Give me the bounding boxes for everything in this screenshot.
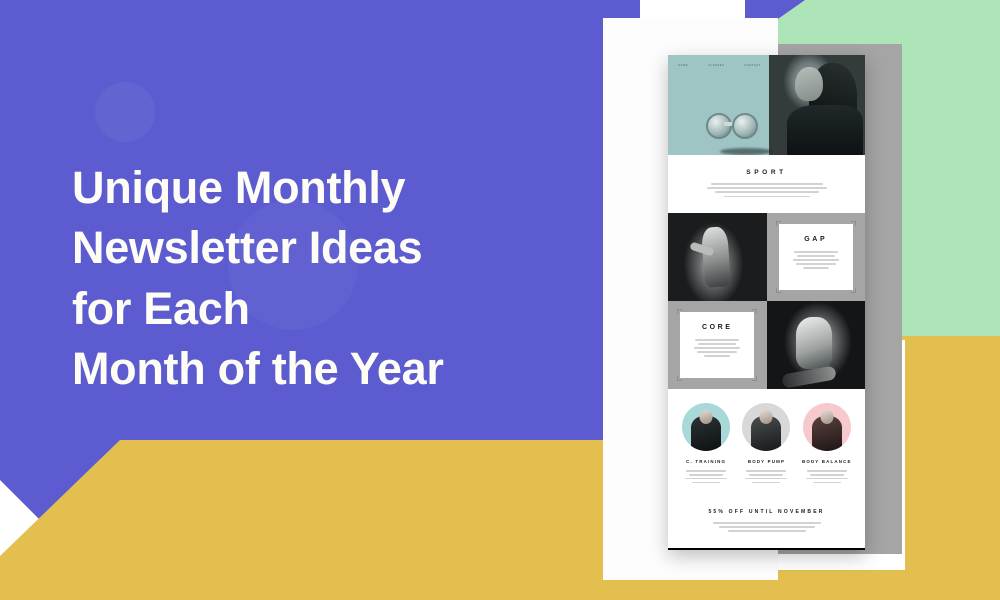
dumbbell-icon (706, 109, 758, 143)
placeholder-text-line (794, 251, 838, 253)
placeholder-text-line (697, 351, 737, 353)
hero-athlete-photo (769, 55, 865, 155)
placeholder-text-line (715, 191, 819, 193)
placeholder-text-line (711, 183, 823, 185)
class-title: BODY BALANCE (800, 459, 854, 464)
headline-line-1: Unique Monthly (72, 158, 592, 218)
mockup-hero: HOME CLASSES CONTACT (668, 55, 865, 155)
placeholder-text-line (719, 526, 815, 528)
headline-line-2: Newsletter Ideas (72, 218, 592, 278)
dumbbell-bar (724, 122, 742, 126)
placeholder-text-line (806, 478, 848, 480)
gap-photo (668, 213, 767, 301)
class-head-shape (700, 410, 713, 424)
hero-body-shape (787, 105, 863, 155)
hero-face-shape (795, 67, 823, 101)
class-title: C. TRAINING (679, 459, 733, 464)
placeholder-text-line (695, 339, 739, 341)
placeholder-text-line (713, 522, 821, 524)
core-photo (767, 301, 866, 389)
corner-mark-br (851, 288, 856, 293)
placeholder-text-line (797, 255, 835, 257)
corner-mark-br (752, 376, 757, 381)
core-figure-shape (796, 317, 832, 369)
corner-mark-tl (677, 309, 682, 314)
class-body-lines (739, 470, 793, 483)
placeholder-text-line (807, 470, 847, 472)
class-head-shape (760, 410, 773, 424)
class-item[interactable]: BODY PUMP (739, 403, 793, 483)
promo-text: 55% OFF UNTIL NOVEMBER (668, 509, 865, 515)
newsletter-mockup: HOME CLASSES CONTACT SPORT (668, 55, 865, 550)
class-head-shape (820, 410, 833, 424)
corner-mark-bl (677, 376, 682, 381)
placeholder-text-line (704, 355, 730, 357)
placeholder-text-line (803, 267, 829, 269)
placeholder-text-line (752, 482, 780, 484)
class-photo-circle (742, 403, 790, 451)
placeholder-text-line (724, 196, 810, 198)
core-card: CORE (680, 312, 754, 378)
corner-mark-tl (776, 221, 781, 226)
decorative-circle-small (95, 82, 155, 142)
placeholder-text-line (745, 478, 787, 480)
mockup-core-row: CORE (668, 301, 865, 389)
promo-body-lines (668, 522, 865, 532)
core-title: CORE (688, 324, 746, 331)
mockup-footer: f ✦ (668, 548, 865, 550)
placeholder-text-line (810, 474, 844, 476)
gap-card: GAP (779, 224, 853, 290)
placeholder-text-line (692, 482, 720, 484)
gap-title: GAP (787, 236, 845, 243)
mockup-nav: HOME CLASSES CONTACT (678, 64, 761, 67)
mockup-sport-section: SPORT (668, 155, 865, 213)
placeholder-text-line (746, 470, 786, 472)
placeholder-text-line (686, 470, 726, 472)
corner-mark-bl (776, 288, 781, 293)
gap-figure-shape (701, 226, 731, 288)
sport-title: SPORT (690, 169, 843, 176)
gap-card-wrap: GAP (767, 213, 866, 301)
nav-item-contact[interactable]: CONTACT (744, 64, 761, 67)
class-body-lines (679, 470, 733, 483)
nav-item-classes[interactable]: CLASSES (708, 64, 724, 67)
placeholder-text-line (685, 478, 727, 480)
headline-line-3: for Each (72, 279, 592, 339)
placeholder-text-line (689, 474, 723, 476)
class-item[interactable]: C. TRAINING (679, 403, 733, 483)
core-leg-shape (781, 365, 837, 388)
core-body-lines (688, 339, 746, 357)
corner-mark-tr (752, 309, 757, 314)
placeholder-text-line (749, 474, 783, 476)
page-title: Unique Monthly Newsletter Ideas for Each… (72, 158, 592, 399)
core-card-wrap: CORE (668, 301, 767, 389)
mockup-gap-row: GAP (668, 213, 865, 301)
placeholder-text-line (728, 530, 806, 532)
sport-body-lines (690, 183, 843, 197)
nav-item-home[interactable]: HOME (678, 64, 688, 67)
class-item[interactable]: BODY BALANCE (800, 403, 854, 483)
gap-body-lines (787, 251, 845, 269)
class-photo-circle (682, 403, 730, 451)
placeholder-text-line (796, 263, 836, 265)
mockup-promo-section: 55% OFF UNTIL NOVEMBER (668, 495, 865, 548)
placeholder-text-line (694, 347, 740, 349)
placeholder-text-line (707, 187, 827, 189)
class-photo-circle (803, 403, 851, 451)
placeholder-text-line (698, 343, 736, 345)
corner-mark-tr (851, 221, 856, 226)
placeholder-text-line (793, 259, 839, 261)
placeholder-text-line (813, 482, 841, 484)
hero-shadow (720, 148, 772, 155)
class-title: BODY PUMP (739, 459, 793, 464)
banner-stage: Unique Monthly Newsletter Ideas for Each… (0, 0, 1000, 600)
headline-line-4: Month of the Year (72, 339, 592, 399)
class-body-lines (800, 470, 854, 483)
mockup-classes-section: C. TRAINING BODY PUMP BODY BALANCE (668, 389, 865, 495)
